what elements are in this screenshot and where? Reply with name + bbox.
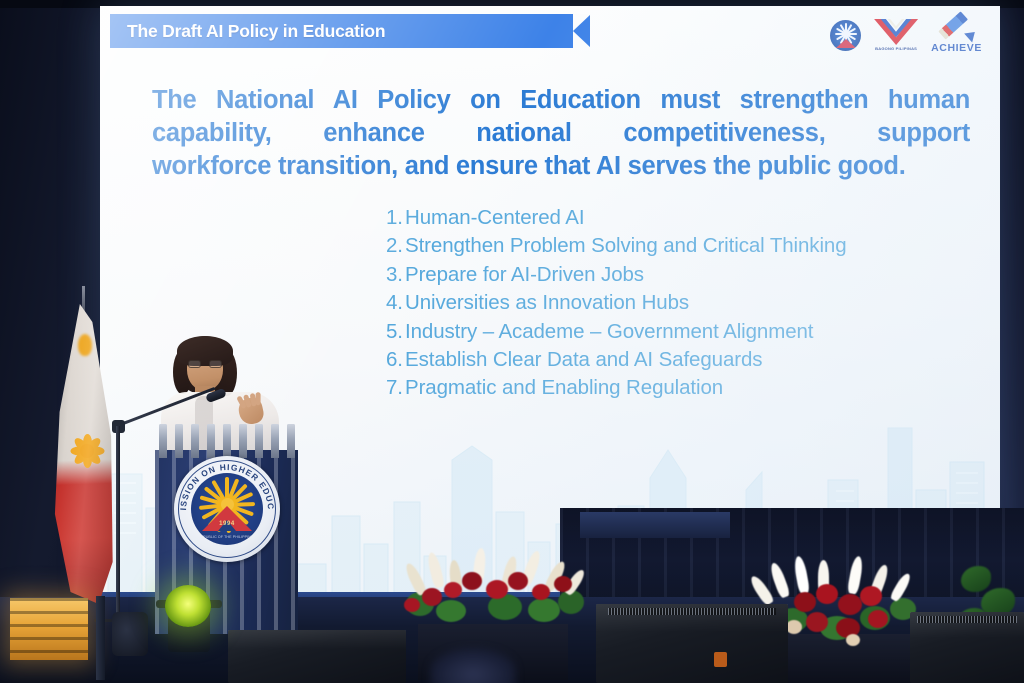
list-item-number: 4. xyxy=(386,289,405,317)
stage-monitor-right xyxy=(910,612,1024,683)
scene-photo: The Draft AI Policy in Education xyxy=(0,0,1024,683)
list-item-label: Prepare for AI-Driven Jobs xyxy=(405,261,644,289)
cable-drum xyxy=(112,612,148,656)
slide-title-text: The Draft AI Policy in Education xyxy=(110,21,385,42)
slide-heading-line-2: capability, enhance national competitive… xyxy=(152,117,970,150)
stage-monitor-center xyxy=(596,604,788,683)
amber-light-panel xyxy=(10,598,88,660)
microphone-stand xyxy=(112,392,222,622)
flower-arrangement-left xyxy=(400,538,590,634)
slide-heading: The National AI Policy on Education must… xyxy=(152,84,970,183)
slide-heading-line-1: The National AI Policy on Education must… xyxy=(152,84,970,117)
list-item-number: 2. xyxy=(386,232,405,260)
stage-riser xyxy=(580,512,730,538)
list-item: 7. Pragmatic and Enabling Regulation xyxy=(386,374,847,402)
list-item: 1. Human-Centered AI xyxy=(386,204,847,232)
list-item-number: 3. xyxy=(386,261,405,289)
stage-monitor-left xyxy=(228,630,406,683)
monitor-slant xyxy=(228,630,406,649)
slide-heading-line-3: workforce transition, and ensure that AI… xyxy=(152,150,970,183)
mic-pole xyxy=(116,426,120,618)
achieve-label: ACHIEVE xyxy=(931,42,982,54)
slide-numbered-list: 1. Human-Centered AI 2. Strengthen Probl… xyxy=(386,204,847,403)
monitor-grille xyxy=(608,608,777,615)
list-item: 2. Strengthen Problem Solving and Critic… xyxy=(386,232,847,260)
list-item: 5. Industry – Academe – Government Align… xyxy=(386,318,847,346)
list-item-label: Human-Centered AI xyxy=(405,204,584,232)
green-stage-light xyxy=(165,585,211,627)
list-item-label: Pragmatic and Enabling Regulation xyxy=(405,374,723,402)
bagong-pilipinas-label: BAGONG PILIPINAS xyxy=(874,46,918,51)
slide-title-ribbon: The Draft AI Policy in Education xyxy=(110,14,590,48)
achieve-logo: ACHIEVE xyxy=(931,16,982,54)
list-item-number: 6. xyxy=(386,346,405,374)
list-item: 6. Establish Clear Data and AI Safeguard… xyxy=(386,346,847,374)
list-item-number: 5. xyxy=(386,318,405,346)
monitor-brand-badge xyxy=(714,652,727,667)
list-item-label: Industry – Academe – Government Alignmen… xyxy=(405,318,813,346)
eyeglasses-icon xyxy=(188,360,222,368)
list-item: 4. Universities as Innovation Hubs xyxy=(386,289,847,317)
list-item-label: Establish Clear Data and AI Safeguards xyxy=(405,346,762,374)
list-item-number: 1. xyxy=(386,204,405,232)
pencil-arrow-icon xyxy=(940,16,974,43)
flag-shading xyxy=(44,304,122,604)
slide-logo-row: BAGONG PILIPINAS ACHIEVE xyxy=(830,16,982,54)
bagong-pilipinas-chevron-icon xyxy=(874,19,918,45)
list-item-number: 7. xyxy=(386,374,405,402)
list-item-label: Strengthen Problem Solving and Critical … xyxy=(405,232,847,260)
list-item-label: Universities as Innovation Hubs xyxy=(405,289,689,317)
stage-truss xyxy=(96,596,105,680)
bagong-pilipinas-logo: BAGONG PILIPINAS xyxy=(874,19,918,51)
philippine-seal-icon xyxy=(830,20,861,51)
monitor-grille xyxy=(917,616,1017,623)
list-item: 3. Prepare for AI-Driven Jobs xyxy=(386,261,847,289)
mic-boom-arm xyxy=(117,387,215,427)
